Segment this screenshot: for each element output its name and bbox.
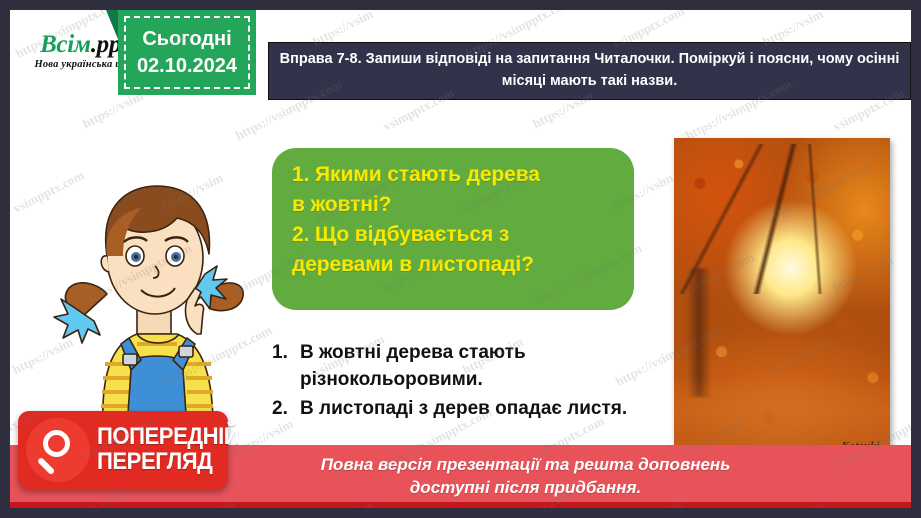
task-header-text: Вправа 7-8. Запиши відповіді на запитанн… [277,49,902,93]
answer-item: 2. В листопаді з дерев опадає листя. [272,396,672,423]
autumn-forest-photo: Kotsuki [674,138,890,462]
answers-list: 1. В жовтні дерева стають різнокольорови… [272,340,672,425]
preview-badge: ПОПЕРЕДНІЙ ПЕРЕГЛЯД [18,411,228,489]
date-badge-label: Сьогодні [142,26,231,53]
slide-page: Всім.pptx Нова українська школа Сьогодні… [10,10,911,508]
answer-item: 1. В жовтні дерева стають різнокольорови… [272,340,672,394]
date-badge-value: 02.10.2024 [137,53,237,80]
purchase-banner-line-1: Повна версія презентації та решта доповн… [321,455,731,474]
question-line-4: деревами в листопаді? [292,250,618,280]
magnifier-handle-icon [37,457,55,475]
preview-badge-label: ПОПЕРЕДНІЙ ПЕРЕГЛЯД [97,425,252,475]
task-header: Вправа 7-8. Запиши відповіді на запитанн… [268,42,911,100]
watermark-text: https://vsim [910,334,911,378]
date-badge: Сьогодні 02.10.2024 [118,10,256,95]
question-bubble: 1. Якими стають дерева в жовтні? 2. Що в… [272,148,634,310]
purchase-banner-line-2: доступні після придбання. [410,478,641,497]
magnifier-icon [26,418,90,482]
preview-badge-line-2: ПЕРЕГЛЯД [97,450,239,475]
thinking-girl-illustration [45,138,270,428]
date-badge-wrapper: Сьогодні 02.10.2024 [118,10,256,95]
question-line-3: 2. Що відбувається з [292,220,618,250]
answer-number: 1. [272,340,300,394]
question-line-2: в жовтні? [292,190,618,220]
brand-logo-main: Всім [40,31,91,58]
answer-number: 2. [272,396,300,423]
magnifier-glass-icon [43,430,70,457]
answer-text: В листопаді з дерев опадає листя. [300,396,672,423]
question-line-1: 1. Якими стають дерева [292,160,618,190]
purchase-banner-text: Повна версія презентації та решта доповн… [191,454,731,500]
preview-badge-line-1: ПОПЕРЕДНІЙ [97,425,239,450]
answer-text: В жовтні дерева стають різнокольоровими. [300,340,672,394]
slide-frame: Всім.pptx Нова українська школа Сьогодні… [0,0,921,518]
